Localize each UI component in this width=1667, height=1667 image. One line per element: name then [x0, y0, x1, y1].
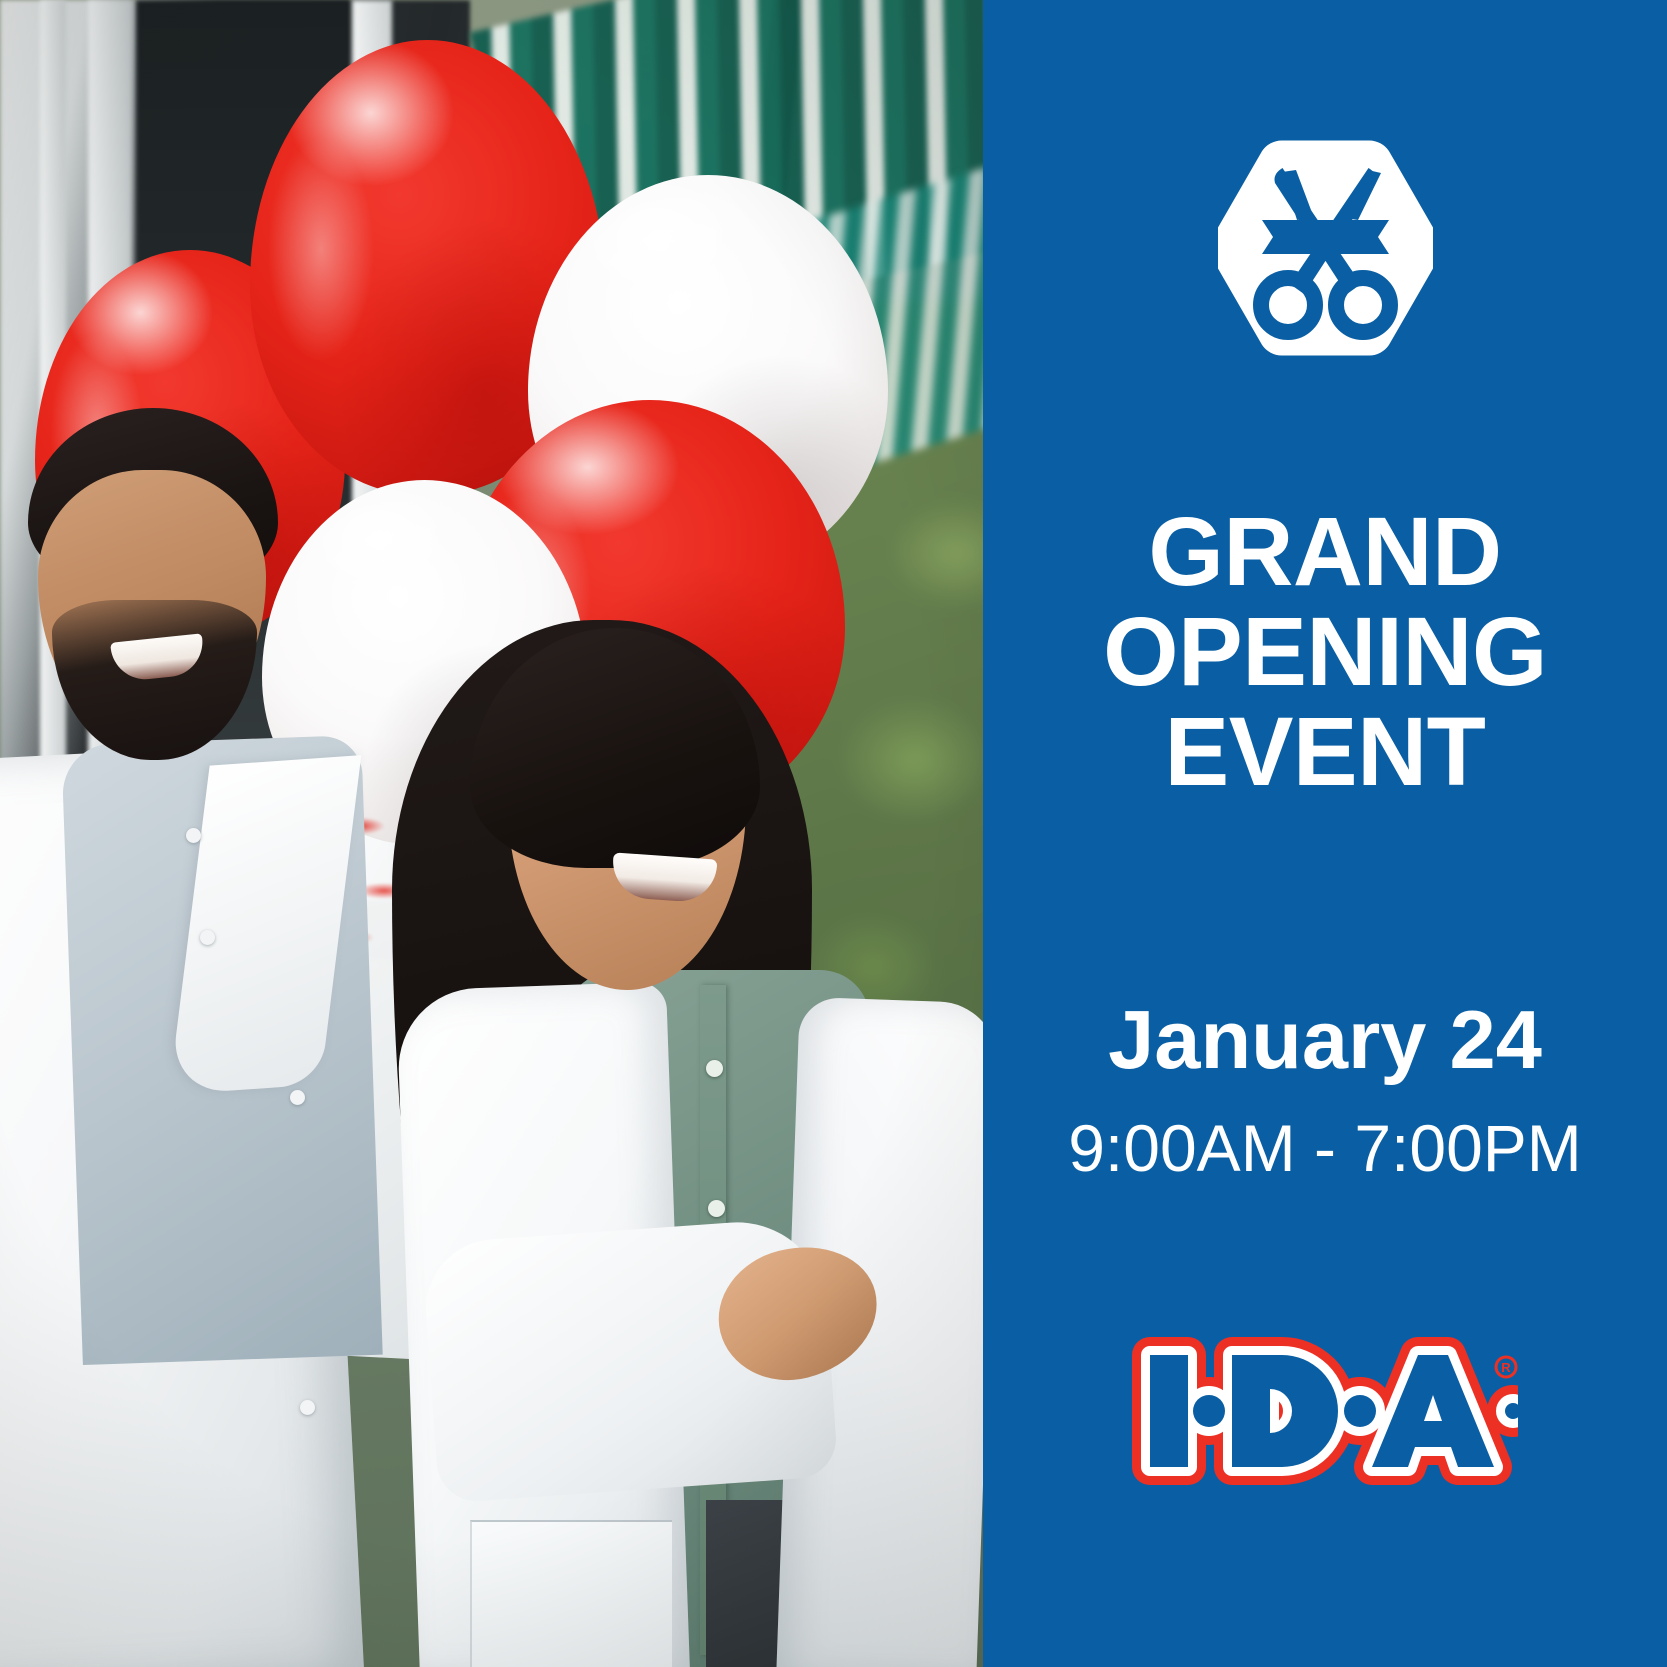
coat-button [290, 1090, 305, 1105]
info-panel: GRAND OPENING EVENT January 24 9:00AM - … [983, 0, 1667, 1667]
blouse-button [708, 1200, 725, 1217]
registered-trademark-symbol: R [1496, 1357, 1516, 1377]
lab-coat-pocket [470, 1520, 672, 1667]
shirt-button [200, 930, 215, 945]
event-time: 9:00AM - 7:00PM [1068, 1115, 1582, 1181]
grand-opening-poster: Two smiling pharmacists in white lab coa… [0, 0, 1667, 1667]
logo-text: I·D·A· [1325, 0, 1326, 1]
svg-text:R: R [1501, 1360, 1511, 1375]
ribbon-cutting-scissors-hexagon-icon [1218, 132, 1433, 364]
event-date: January 24 [1108, 998, 1542, 1081]
page-title: GRAND OPENING EVENT [1103, 502, 1547, 802]
coat-button [300, 1400, 315, 1415]
blouse-button [706, 1060, 723, 1077]
ida-logo: R [1132, 1333, 1518, 1491]
hero-photo: Two smiling pharmacists in white lab coa… [0, 0, 983, 1667]
shirt-button [186, 828, 201, 843]
